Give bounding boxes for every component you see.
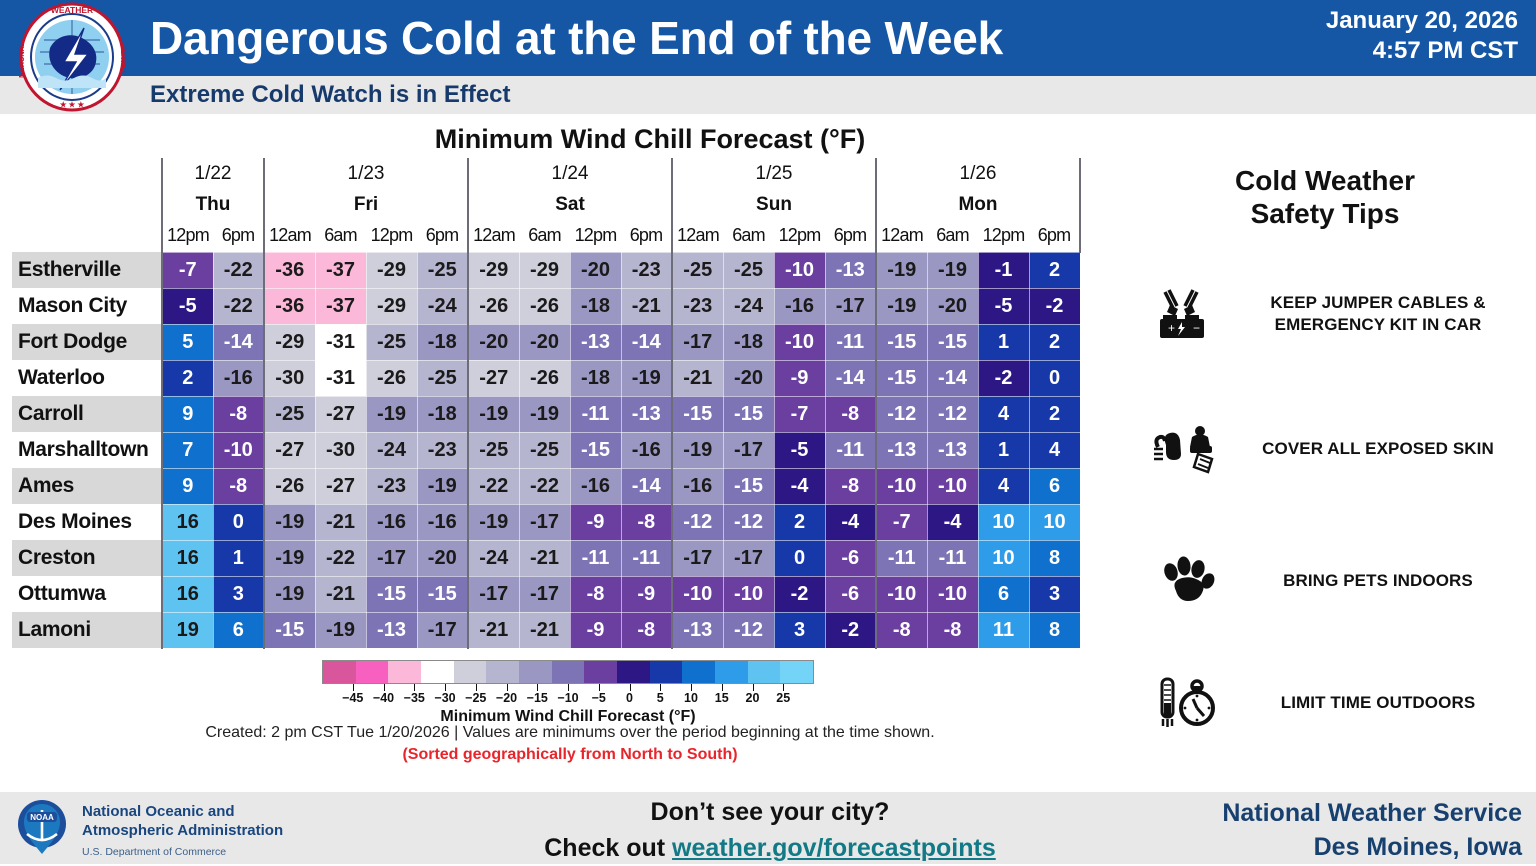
- svg-text:NOAA: NOAA: [30, 813, 54, 822]
- forecast-points-link[interactable]: weather.gov/forecastpoints: [672, 834, 996, 862]
- wind-chill-cell: -16: [417, 504, 468, 540]
- safety-tip-pets-indoors: BRING PETS INDOORS: [1152, 555, 1522, 607]
- wind-chill-cell: 8: [1029, 540, 1080, 576]
- winter-clothing-icon: [1152, 423, 1222, 475]
- jumper-cables-battery-icon: + −: [1152, 288, 1222, 340]
- colorbar-tick-mark: [660, 684, 661, 691]
- wind-chill-cell: -29: [264, 324, 315, 360]
- wind-chill-cell: 6: [213, 612, 264, 648]
- wind-chill-cell: -10: [876, 576, 927, 612]
- wind-chill-cell: -15: [927, 324, 978, 360]
- colorbar-swatch: [421, 661, 454, 683]
- wind-chill-cell: 7: [162, 432, 213, 468]
- wind-chill-cell: -15: [723, 396, 774, 432]
- wind-chill-cell: 11: [978, 612, 1029, 648]
- wind-chill-cell: -19: [366, 396, 417, 432]
- wind-chill-cell: -5: [774, 432, 825, 468]
- wind-chill-cell: -13: [366, 612, 417, 648]
- column-group-date: 1/23: [264, 158, 468, 189]
- wind-chill-cell: -22: [519, 468, 570, 504]
- table-row: Des Moines160-19-21-16-16-19-17-9-8-12-1…: [12, 504, 1080, 540]
- wind-chill-cell: 8: [1029, 612, 1080, 648]
- wind-chill-cell: -15: [876, 324, 927, 360]
- safety-tip-jumper-cables: + − KEEP JUMPER CABLES & EMERGENCY KIT I…: [1152, 288, 1522, 340]
- table-row: Creston161-19-22-17-20-24-21-11-11-17-17…: [12, 540, 1080, 576]
- wind-chill-cell: 9: [162, 396, 213, 432]
- wind-chill-cell: -14: [621, 324, 672, 360]
- colorbar-tick-mark: [414, 684, 415, 691]
- wind-chill-cell: -20: [570, 252, 621, 288]
- city-label: Fort Dodge: [12, 324, 162, 360]
- wind-chill-cell: -19: [621, 360, 672, 396]
- column-header-hour: 6pm: [825, 220, 876, 252]
- wind-chill-cell: -17: [468, 576, 519, 612]
- wind-chill-cell: 10: [978, 540, 1029, 576]
- wind-chill-cell: 16: [162, 576, 213, 612]
- colorbar-tick-mark: [599, 684, 600, 691]
- wind-chill-cell: -15: [723, 468, 774, 504]
- city-label: Carroll: [12, 396, 162, 432]
- wind-chill-cell: 1: [213, 540, 264, 576]
- safety-tip-limit-time: LIMIT TIME OUTDOORS: [1152, 675, 1522, 731]
- wind-chill-cell: -14: [825, 360, 876, 396]
- wind-chill-cell: -8: [876, 612, 927, 648]
- wind-chill-cell: -18: [417, 396, 468, 432]
- wind-chill-cell: -29: [366, 288, 417, 324]
- wind-chill-cell: -25: [366, 324, 417, 360]
- wind-chill-cell: -8: [621, 504, 672, 540]
- colorbar-swatch: [617, 661, 650, 683]
- wind-chill-cell: -6: [825, 540, 876, 576]
- wind-chill-cell: -18: [417, 324, 468, 360]
- wind-chill-cell: -12: [723, 612, 774, 648]
- wind-chill-cell: -12: [723, 504, 774, 540]
- wind-chill-cell: -25: [417, 360, 468, 396]
- colorbar-swatch: [388, 661, 421, 683]
- wind-chill-cell: -1: [978, 252, 1029, 288]
- wind-chill-cell: -15: [672, 396, 723, 432]
- wind-chill-cell: -19: [468, 504, 519, 540]
- colorbar-tick-mark: [353, 684, 354, 691]
- wind-chill-cell: -12: [876, 396, 927, 432]
- city-label: Lamoni: [12, 612, 162, 648]
- wind-chill-cell: -36: [264, 288, 315, 324]
- city-label: Mason City: [12, 288, 162, 324]
- city-label: Creston: [12, 540, 162, 576]
- wind-chill-cell: -26: [519, 288, 570, 324]
- wind-chill-cell: -9: [774, 360, 825, 396]
- table-body: Estherville-7-22-36-37-29-25-29-29-20-23…: [12, 252, 1080, 648]
- wind-chill-cell: -19: [264, 540, 315, 576]
- wind-chill-cell: -23: [417, 432, 468, 468]
- thermometer-stopwatch-icon: [1152, 675, 1222, 731]
- wind-chill-cell: -8: [825, 468, 876, 504]
- wind-chill-cell: -8: [213, 396, 264, 432]
- wind-chill-cell: -16: [672, 468, 723, 504]
- svg-text:NATIONAL: NATIONAL: [19, 41, 26, 77]
- column-header-hour: 12pm: [774, 220, 825, 252]
- table-row: Waterloo2-16-30-31-26-25-27-26-18-19-21-…: [12, 360, 1080, 396]
- colorbar-swatch: [486, 661, 519, 683]
- wind-chill-cell: -19: [264, 504, 315, 540]
- noaa-sub-line: U.S. Department of Commerce: [82, 843, 382, 862]
- colorbar-ticks: −45−40−35−30−25−20−15−10−50510152025: [322, 685, 814, 705]
- wind-chill-cell: -20: [927, 288, 978, 324]
- noaa-agency-text: National Oceanic and Atmospheric Adminis…: [82, 802, 382, 862]
- wind-chill-cell: -25: [264, 396, 315, 432]
- safety-tip-cover-skin: COVER ALL EXPOSED SKIN: [1152, 423, 1522, 475]
- chart-title: Minimum Wind Chill Forecast (°F): [160, 124, 1140, 155]
- wind-chill-cell: -10: [774, 324, 825, 360]
- wind-chill-cell: -24: [417, 288, 468, 324]
- wind-chill-cell: -14: [927, 360, 978, 396]
- column-header-hour: 12pm: [366, 220, 417, 252]
- wind-chill-cell: 2: [1029, 396, 1080, 432]
- wind-chill-cell: -4: [927, 504, 978, 540]
- wind-chill-cell: -23: [621, 252, 672, 288]
- wind-chill-cell: -2: [1029, 288, 1080, 324]
- wind-chill-cell: -21: [672, 360, 723, 396]
- wind-chill-cell: -19: [417, 468, 468, 504]
- wind-chill-cell: 16: [162, 504, 213, 540]
- wind-chill-cell: -19: [315, 612, 366, 648]
- footer-cta-prefix: Check out: [544, 834, 672, 862]
- wind-chill-cell: -37: [315, 288, 366, 324]
- table-row: Marshalltown7-10-27-30-24-23-25-25-15-16…: [12, 432, 1080, 468]
- wind-chill-cell: -19: [672, 432, 723, 468]
- wind-chill-cell: -9: [621, 576, 672, 612]
- sorted-note: (Sorted geographically from North to Sou…: [100, 746, 1040, 764]
- svg-text:★ ★ ★: ★ ★ ★: [60, 100, 86, 109]
- wind-chill-cell: -12: [927, 396, 978, 432]
- column-header-hour: 6am: [723, 220, 774, 252]
- wind-chill-cell: -22: [213, 252, 264, 288]
- wind-chill-cell: 3: [774, 612, 825, 648]
- wind-chill-cell: -17: [417, 612, 468, 648]
- wind-chill-cell: -8: [570, 576, 621, 612]
- wind-chill-cell: -19: [876, 288, 927, 324]
- colorbar-tick-label: 15: [715, 691, 729, 705]
- wind-chill-cell: -13: [570, 324, 621, 360]
- colorbar-tick-mark: [753, 684, 754, 691]
- wind-chill-cell: 0: [774, 540, 825, 576]
- table-row: Carroll9-8-25-27-19-18-19-19-11-13-15-15…: [12, 396, 1080, 432]
- wind-chill-cell: -27: [315, 396, 366, 432]
- column-header-hour: 12am: [468, 220, 519, 252]
- column-header-hour: 6pm: [1029, 220, 1080, 252]
- column-header-hour: 6pm: [417, 220, 468, 252]
- alert-subheadline: Extreme Cold Watch is in Effect: [150, 78, 1050, 112]
- column-header-hour: 12am: [672, 220, 723, 252]
- colorbar-swatches: [322, 660, 814, 684]
- wind-chill-cell: 10: [1029, 504, 1080, 540]
- colorbar-tick-label: −35: [404, 691, 425, 705]
- wind-chill-cell: -8: [213, 468, 264, 504]
- table-row: Mason City-5-22-36-37-29-24-26-26-18-21-…: [12, 288, 1080, 324]
- header-date: January 20, 2026: [1138, 6, 1518, 36]
- wind-chill-cell: -29: [468, 252, 519, 288]
- wind-chill-cell: -25: [519, 432, 570, 468]
- svg-text:−: −: [1193, 321, 1200, 335]
- wind-chill-cell: -20: [417, 540, 468, 576]
- wind-chill-cell: -23: [672, 288, 723, 324]
- wind-chill-cell: 4: [978, 468, 1029, 504]
- wind-chill-cell: -22: [315, 540, 366, 576]
- city-label: Ottumwa: [12, 576, 162, 612]
- wind-chill-cell: -26: [519, 360, 570, 396]
- wind-chill-cell: -16: [570, 468, 621, 504]
- noaa-line-2: Atmospheric Administration: [82, 821, 382, 840]
- wind-chill-cell: -29: [366, 252, 417, 288]
- wind-chill-cell: -7: [876, 504, 927, 540]
- wind-chill-cell: 9: [162, 468, 213, 504]
- wind-chill-cell: -8: [621, 612, 672, 648]
- colorbar-tick-mark: [445, 684, 446, 691]
- wind-chill-cell: -30: [264, 360, 315, 396]
- colorbar-swatch: [748, 661, 781, 683]
- column-header-hour: 6pm: [621, 220, 672, 252]
- wind-chill-cell: 2: [162, 360, 213, 396]
- wind-chill-cell: -2: [825, 612, 876, 648]
- colorbar-tick-label: −5: [592, 691, 606, 705]
- wind-chill-cell: -36: [264, 252, 315, 288]
- footer-office: National Weather Service Des Moines, Iow…: [1122, 796, 1522, 864]
- wind-chill-cell: 2: [1029, 324, 1080, 360]
- wind-chill-cell: -13: [621, 396, 672, 432]
- wind-chill-cell: -2: [978, 360, 1029, 396]
- wind-chill-cell: 1: [978, 324, 1029, 360]
- wind-chill-cell: 4: [1029, 432, 1080, 468]
- colorbar-swatch: [584, 661, 617, 683]
- colorbar-tick-mark: [568, 684, 569, 691]
- wind-chill-cell: -37: [315, 252, 366, 288]
- wind-chill-cell: -17: [519, 504, 570, 540]
- table-row: Ames9-8-26-27-23-19-22-22-16-14-16-15-4-…: [12, 468, 1080, 504]
- footer-cta-line2: Check out weather.gov/forecastpoints: [420, 830, 1120, 866]
- wind-chill-cell: -2: [774, 576, 825, 612]
- colorbar-tick-mark: [722, 684, 723, 691]
- wind-chill-cell: -17: [519, 576, 570, 612]
- paw-print-icon: [1152, 555, 1222, 607]
- wind-chill-cell: -19: [264, 576, 315, 612]
- colorbar-tick-mark: [630, 684, 631, 691]
- table-header: 1/221/231/241/251/26 ThuFriSatSunMon 12p…: [12, 158, 1080, 252]
- wind-chill-cell: 0: [213, 504, 264, 540]
- header-corner-2: [12, 189, 162, 220]
- wind-chill-cell: -21: [519, 612, 570, 648]
- colorbar-tick-mark: [783, 684, 784, 691]
- wind-chill-cell: -27: [264, 432, 315, 468]
- wind-chill-cell: -23: [366, 468, 417, 504]
- colorbar-swatch: [356, 661, 389, 683]
- wind-chill-cell: 16: [162, 540, 213, 576]
- column-header-hour: 6am: [927, 220, 978, 252]
- noaa-logo: NOAA: [14, 798, 70, 860]
- wind-chill-cell: -10: [213, 432, 264, 468]
- wind-chill-cell: -12: [672, 504, 723, 540]
- wind-chill-cell: -11: [570, 396, 621, 432]
- footer-cta-line1: Don’t see your city?: [420, 794, 1120, 830]
- column-header-hour: 12am: [264, 220, 315, 252]
- safety-tips-title: Cold Weather Safety Tips: [1150, 164, 1500, 230]
- wind-chill-cell: -16: [213, 360, 264, 396]
- column-header-hour: 12pm: [162, 220, 213, 252]
- colorbar-legend: −45−40−35−30−25−20−15−10−50510152025 Min…: [322, 660, 814, 726]
- wind-chill-cell: -25: [723, 252, 774, 288]
- wind-chill-cell: -24: [366, 432, 417, 468]
- table-row: Fort Dodge5-14-29-31-25-18-20-20-13-14-1…: [12, 324, 1080, 360]
- wind-chill-cell: -16: [366, 504, 417, 540]
- wind-chill-cell: -21: [621, 288, 672, 324]
- wind-chill-cell: -21: [315, 576, 366, 612]
- wind-chill-cell: -13: [672, 612, 723, 648]
- wind-chill-cell: -19: [876, 252, 927, 288]
- wind-chill-cell: -10: [723, 576, 774, 612]
- wind-chill-cell: 2: [1029, 252, 1080, 288]
- colorbar-swatch: [682, 661, 715, 683]
- header-corner-3: [12, 220, 162, 252]
- wind-chill-cell: -25: [417, 252, 468, 288]
- wind-chill-cell: -13: [927, 432, 978, 468]
- svg-text:SERVICE: SERVICE: [119, 45, 126, 76]
- wind-chill-cell: -17: [723, 540, 774, 576]
- page-title: Dangerous Cold at the End of the Week: [150, 4, 1230, 72]
- wind-chill-cell: -25: [468, 432, 519, 468]
- wind-chill-cell: -15: [876, 360, 927, 396]
- wind-chill-cell: -13: [876, 432, 927, 468]
- wind-chill-cell: -17: [366, 540, 417, 576]
- wind-chill-cell: -27: [468, 360, 519, 396]
- wind-chill-cell: -19: [927, 252, 978, 288]
- wind-chill-cell: 1: [978, 432, 1029, 468]
- column-group-day: Sun: [672, 189, 876, 220]
- column-group-day: Fri: [264, 189, 468, 220]
- wind-chill-cell: -18: [570, 360, 621, 396]
- wind-chill-cell: -27: [315, 468, 366, 504]
- wind-chill-cell: -20: [723, 360, 774, 396]
- column-group-day: Sat: [468, 189, 672, 220]
- wind-chill-cell: -9: [570, 504, 621, 540]
- wind-chill-cell: -20: [519, 324, 570, 360]
- wind-chill-cell: -21: [315, 504, 366, 540]
- wind-chill-cell: -14: [621, 468, 672, 504]
- table-row: Estherville-7-22-36-37-29-25-29-29-20-23…: [12, 252, 1080, 288]
- city-label: Waterloo: [12, 360, 162, 396]
- wind-chill-cell: -22: [468, 468, 519, 504]
- wind-chill-cell: -31: [315, 360, 366, 396]
- wind-chill-cell: -4: [825, 504, 876, 540]
- column-header-hour: 12am: [876, 220, 927, 252]
- wind-chill-cell: -19: [519, 396, 570, 432]
- noaa-line-1: National Oceanic and: [82, 802, 382, 821]
- table-row: Ottumwa163-19-21-15-15-17-17-8-9-10-10-2…: [12, 576, 1080, 612]
- city-label: Des Moines: [12, 504, 162, 540]
- colorbar-tick-label: −25: [465, 691, 486, 705]
- column-header-hour: 6pm: [213, 220, 264, 252]
- colorbar-swatch: [454, 661, 487, 683]
- wind-chill-cell: -5: [978, 288, 1029, 324]
- wind-chill-cell: -18: [723, 324, 774, 360]
- svg-text:WEATHER: WEATHER: [51, 5, 93, 15]
- wind-chill-cell: 4: [978, 396, 1029, 432]
- wind-chill-cell: 6: [1029, 468, 1080, 504]
- column-group-date: 1/25: [672, 158, 876, 189]
- wind-chill-cell: -14: [213, 324, 264, 360]
- wind-chill-cell: -15: [417, 576, 468, 612]
- nws-logo: WEATHER ★ ★ ★ NATIONAL SERVICE: [14, 2, 130, 112]
- wind-chill-cell: -30: [315, 432, 366, 468]
- colorbar-tick-label: 0: [626, 691, 633, 705]
- city-label: Estherville: [12, 252, 162, 288]
- wind-chill-cell: -10: [927, 468, 978, 504]
- column-group-date: 1/24: [468, 158, 672, 189]
- wind-chill-cell: -24: [468, 540, 519, 576]
- wind-chill-cell: -15: [264, 612, 315, 648]
- wind-chill-cell: -10: [927, 576, 978, 612]
- safety-tip-text: LIMIT TIME OUTDOORS: [1234, 692, 1522, 714]
- wind-chill-cell: -17: [672, 324, 723, 360]
- wind-chill-cell: 2: [774, 504, 825, 540]
- safety-tips-title-line1: Cold Weather: [1150, 164, 1500, 197]
- column-group-day: Thu: [162, 189, 264, 220]
- wind-chill-cell: -4: [774, 468, 825, 504]
- wind-chill-cell: -11: [825, 432, 876, 468]
- wind-chill-cell: -11: [876, 540, 927, 576]
- colorbar-tick-label: −40: [373, 691, 394, 705]
- header-datetime: January 20, 2026 4:57 PM CST: [1138, 6, 1518, 66]
- wind-chill-cell: -31: [315, 324, 366, 360]
- colorbar-tick-mark: [507, 684, 508, 691]
- wind-chill-cell: -11: [927, 540, 978, 576]
- colorbar-swatch: [780, 661, 813, 683]
- safety-tip-text: BRING PETS INDOORS: [1234, 570, 1522, 592]
- wind-chill-table-wrap: 1/221/231/241/251/26 ThuFriSatSunMon 12p…: [12, 158, 1081, 649]
- colorbar-tick-mark: [537, 684, 538, 691]
- wind-chill-cell: -11: [570, 540, 621, 576]
- footer-office-line2: Des Moines, Iowa: [1122, 830, 1522, 864]
- header-time: 4:57 PM CST: [1138, 36, 1518, 66]
- wind-chill-cell: -17: [672, 540, 723, 576]
- table-row: Lamoni196-15-19-13-17-21-21-9-8-13-123-2…: [12, 612, 1080, 648]
- wind-chill-cell: -15: [570, 432, 621, 468]
- wind-chill-heatmap-table: 1/221/231/241/251/26 ThuFriSatSunMon 12p…: [12, 158, 1081, 649]
- column-group-date: 1/22: [162, 158, 264, 189]
- colorbar-tick-mark: [476, 684, 477, 691]
- colorbar-tick-label: 5: [657, 691, 664, 705]
- wind-chill-cell: -7: [774, 396, 825, 432]
- wind-chill-cell: -11: [825, 324, 876, 360]
- colorbar-tick-label: −30: [434, 691, 455, 705]
- column-group-day: Mon: [876, 189, 1080, 220]
- city-label: Marshalltown: [12, 432, 162, 468]
- wind-chill-cell: -10: [672, 576, 723, 612]
- wind-chill-cell: -25: [672, 252, 723, 288]
- wind-chill-cell: 3: [1029, 576, 1080, 612]
- colorbar-tick-label: 20: [746, 691, 760, 705]
- wind-chill-cell: -20: [468, 324, 519, 360]
- colorbar-tick-label: −45: [342, 691, 363, 705]
- wind-chill-cell: 19: [162, 612, 213, 648]
- safety-tip-text: KEEP JUMPER CABLES & EMERGENCY KIT IN CA…: [1234, 292, 1522, 336]
- safety-tips-title-line2: Safety Tips: [1150, 197, 1500, 230]
- colorbar-tick-label: 25: [776, 691, 790, 705]
- colorbar-swatch: [650, 661, 683, 683]
- wind-chill-cell: 6: [978, 576, 1029, 612]
- colorbar-tick-label: −15: [527, 691, 548, 705]
- wind-chill-cell: -17: [825, 288, 876, 324]
- footer-office-line1: National Weather Service: [1122, 796, 1522, 830]
- wind-chill-cell: -10: [876, 468, 927, 504]
